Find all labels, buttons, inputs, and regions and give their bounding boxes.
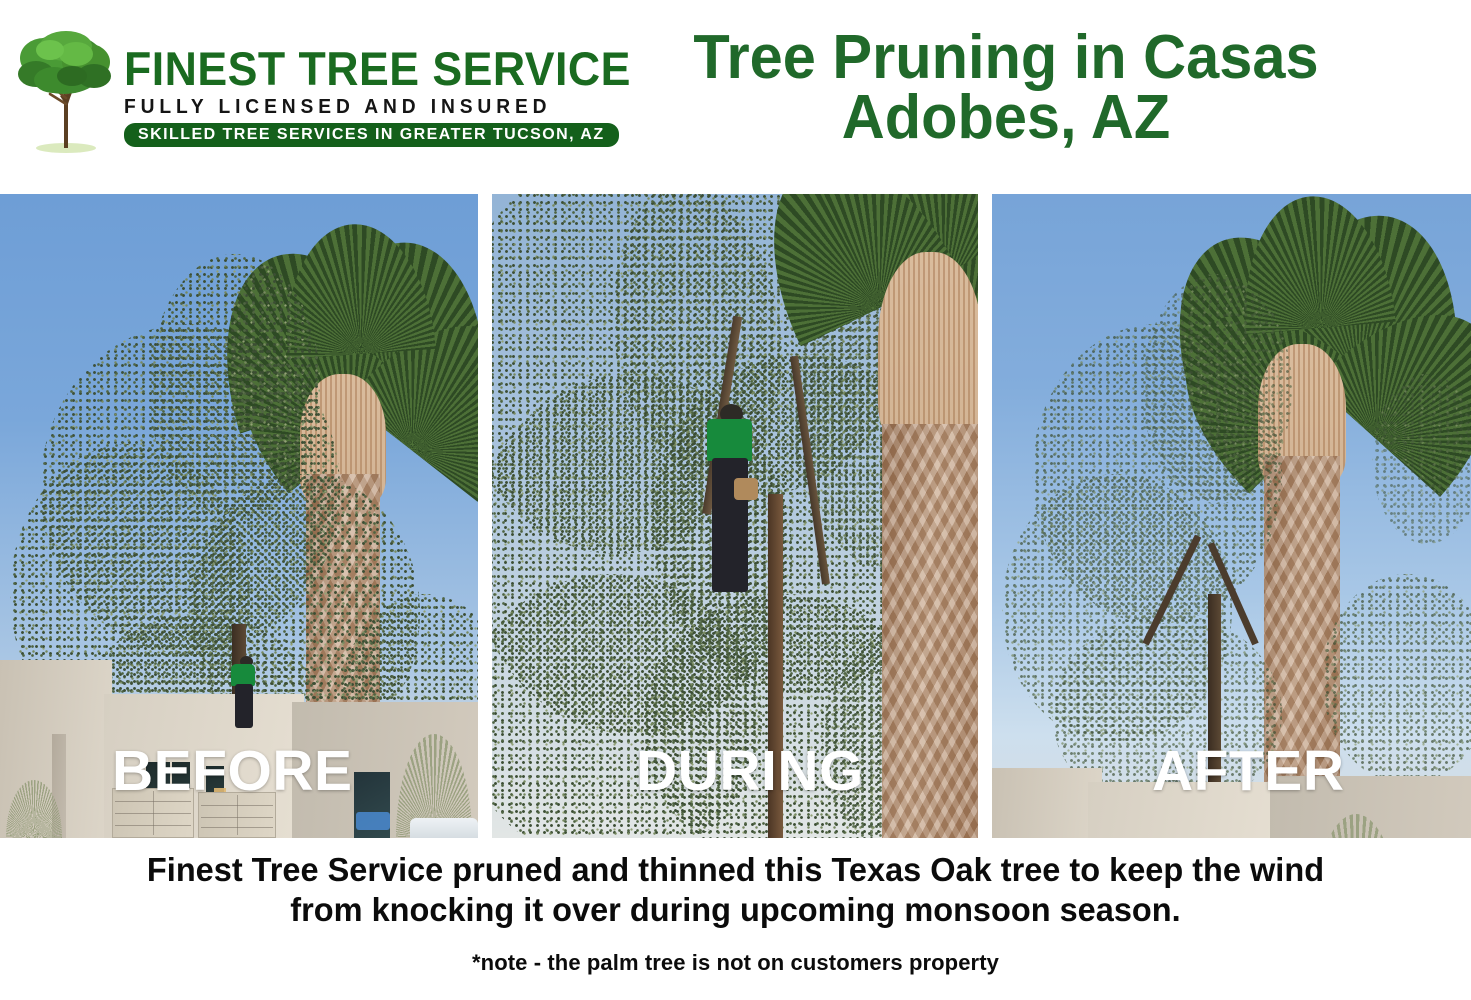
tree-logo-icon (14, 24, 118, 154)
panel-label-after: AFTER (992, 743, 1471, 800)
climber-shirt (707, 419, 752, 461)
logo-badge: SKILLED TREE SERVICES IN GREATER TUCSON,… (124, 123, 619, 147)
project-caption: Finest Tree Service pruned and thinned t… (119, 850, 1351, 930)
tree-climber (704, 404, 758, 594)
climber-shirt (231, 664, 255, 686)
photo-panel-during: DURING (492, 194, 978, 838)
logo-subtitle: FULLY LICENSED AND INSURED (124, 96, 512, 118)
header-banner: FINEST TREE SERVICE FULLY LICENSED AND I… (0, 0, 1471, 194)
tree-climber (228, 656, 262, 730)
logo-title: FINEST TREE SERVICE (124, 44, 508, 94)
panel-label-during: DURING (492, 743, 978, 800)
canopy-mass (1142, 274, 1292, 504)
blue-object (356, 812, 390, 830)
climber-pants (235, 684, 253, 728)
vehicle-edge (410, 818, 478, 838)
climbing-gear (734, 478, 758, 500)
company-logo: FINEST TREE SERVICE FULLY LICENSED AND I… (14, 22, 526, 154)
photo-panel-after: AFTER (992, 194, 1471, 838)
palm-skirt (878, 252, 978, 442)
disclaimer-note: *note - the palm tree is not on customer… (0, 950, 1471, 976)
panel-label-before: BEFORE (0, 743, 478, 800)
page-title: Tree Pruning in Casas Adobes, AZ (574, 28, 1438, 148)
footer-section: Finest Tree Service pruned and thinned t… (0, 838, 1471, 1000)
photo-panel-before: BEFORE (0, 194, 478, 838)
logo-wordmark: FINEST TREE SERVICE FULLY LICENSED AND I… (124, 44, 528, 147)
canopy-mass (1372, 374, 1471, 544)
before-during-after-gallery: BEFORE (0, 194, 1471, 838)
